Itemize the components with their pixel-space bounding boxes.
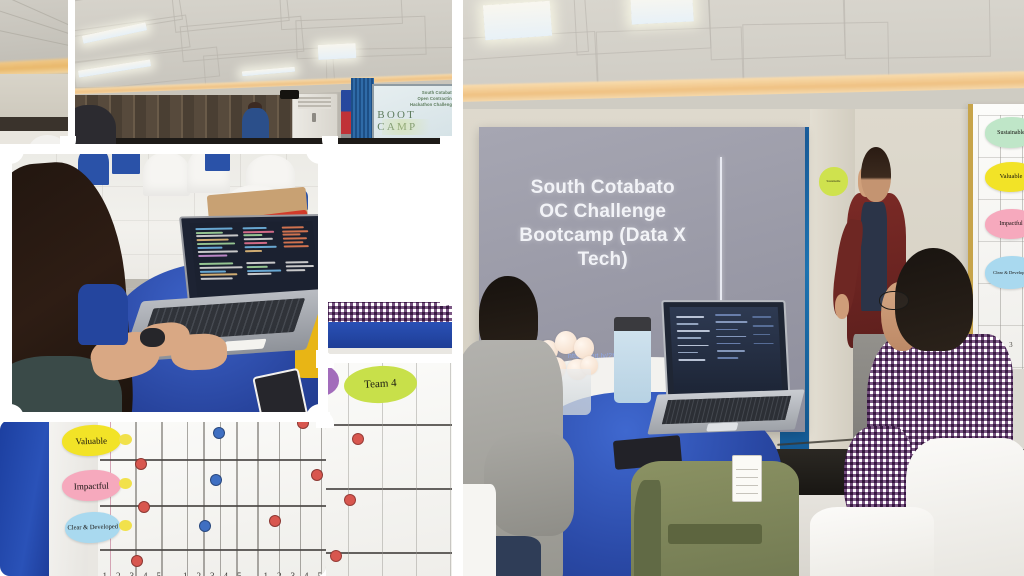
conference-room-scene: South Cotabato Open Contracting Hackatho… [74,0,456,150]
blue-curtain [351,78,374,144]
vote-dot [135,458,147,470]
participant-hand-2 [171,333,228,371]
main-photo-panel: South Cotabato OC Challenge Bootcamp (Da… [462,0,1024,576]
marker-dot [119,434,132,445]
presenter-head [861,147,891,202]
ceiling-light-icon [630,0,693,25]
vote-dot [131,555,143,567]
score-scale-row: 1 2 3 4 5 1 2 3 4 5 1 2 [102,571,326,576]
luggage-tag [732,455,762,502]
laptop-display [670,307,783,397]
table-strip-panel [326,320,456,360]
score-group: 1 2 3 4 5 [263,571,322,576]
wall-criteria-valuable: Valuable [985,162,1024,192]
whiteboard-surface: 1 2 3 4 5 1 2 3 4 5 1 2 [98,420,326,576]
vote-dot [213,427,225,439]
foreground-person-shoulder [74,105,116,150]
ceiling-light-icon [318,43,357,60]
laptop-trackpad [707,423,738,431]
wall-sticky-note: Sustainable [819,167,848,196]
slide-heading: South Cotabato Open Contracting Hackatho… [379,90,454,108]
vote-dot [330,550,342,562]
whiteboard-upper-area: Team 4 [326,360,456,576]
wall-criteria-impactful: Impactful [985,209,1024,239]
white-chair-cover [810,507,934,576]
bootcamp-presentation-scene: South Cotabato OC Challenge Bootcamp (Da… [462,0,1024,576]
score-group: 1 2 3 4 5 [183,571,242,576]
presenter-hand [835,294,850,319]
projection-screen-secondary: South Cotabato Open Contracting Hackatho… [372,84,456,141]
water-bottle [614,317,651,403]
laptop-screen [662,300,791,404]
code-editor-screen [190,222,320,300]
checkered-shoulder-strip [326,300,456,322]
vote-dot [344,494,356,506]
scoring-matrix-scene: 1 2 3 4 5 1 2 3 4 5 1 2 [0,420,326,576]
corner-photo-ceiling [0,0,74,150]
photo-collage: South Cotabato Open Contracting Hackatho… [0,0,1024,576]
blue-table-strip [326,320,456,360]
whiteboard-team-note-panel: Team 4 [326,360,456,576]
checkered-fabric [326,300,456,322]
white-chair-cover [462,484,496,576]
room-photo-panel: South Cotabato Open Contracting Hackatho… [74,0,456,150]
air-conditioner [292,93,338,143]
speaker-icon [280,90,299,99]
vote-dot [199,520,211,532]
slide-title: South Cotabato OC Challenge Bootcamp (Da… [498,176,707,273]
ceiling-light-icon [483,1,553,40]
green-backpack [631,461,800,576]
blue-bag [78,284,128,345]
marker-dot [119,520,132,531]
laptop-photo-panel [10,152,320,427]
vote-dot [138,501,150,513]
wall-criteria-clear-developed: Clear & Developed [985,256,1024,289]
whiteboard-photo-panel: 1 2 3 4 5 1 2 3 4 5 1 2 [0,420,326,576]
participant-laptop-scene [10,152,320,427]
computer-mouse [140,328,165,347]
participant-arm [484,432,574,536]
laptop-keyboard [647,389,805,434]
score-group: 1 2 3 4 5 [102,571,161,576]
corner-photo-panel [0,0,74,150]
marker-dot [119,478,132,489]
vote-dot [297,420,309,429]
wall-criteria-sustainable: Sustainable [985,117,1024,147]
vote-dot [269,515,281,527]
